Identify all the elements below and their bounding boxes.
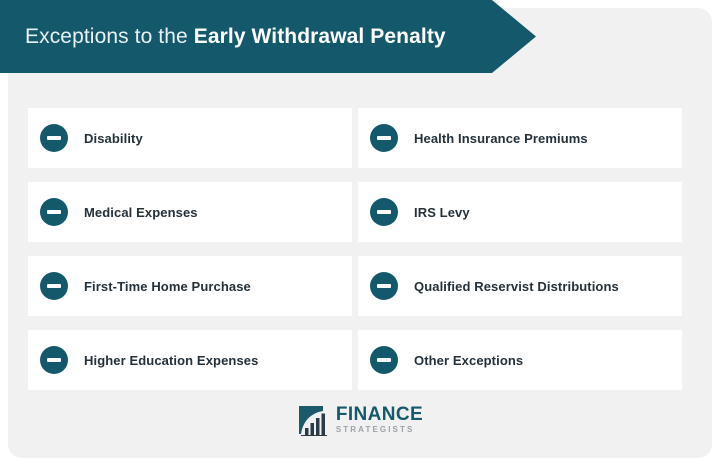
list-item[interactable]: Medical Expenses [28,182,352,242]
list-item-label: Health Insurance Premiums [414,131,588,146]
minus-circle-icon [40,124,68,152]
brand-logo-text: FINANCE STRATEGISTS [336,405,423,435]
exceptions-grid: Disability Health Insurance Premiums Med… [28,108,682,390]
brand-name: FINANCE [336,405,423,424]
minus-circle-icon [370,124,398,152]
list-item[interactable]: Other Exceptions [358,330,682,390]
list-item[interactable]: Qualified Reservist Distributions [358,256,682,316]
list-item-label: Qualified Reservist Distributions [414,279,619,294]
list-item[interactable]: First-Time Home Purchase [28,256,352,316]
minus-circle-icon [40,346,68,374]
minus-circle-icon [40,198,68,226]
brand-logo: FINANCE STRATEGISTS [0,404,720,436]
list-item[interactable]: Disability [28,108,352,168]
list-item[interactable]: IRS Levy [358,182,682,242]
list-item[interactable]: Higher Education Expenses [28,330,352,390]
minus-circle-icon [40,272,68,300]
page-title-bold: Early Withdrawal Penalty [194,25,446,48]
list-item[interactable]: Health Insurance Premiums [358,108,682,168]
page-title-light: Exceptions to the [25,25,194,48]
minus-circle-icon [370,346,398,374]
minus-circle-icon [370,272,398,300]
infographic-root: Exceptions to the Early Withdrawal Penal… [0,0,720,466]
page-title: Exceptions to the Early Withdrawal Penal… [25,0,446,73]
list-item-label: IRS Levy [414,205,470,220]
list-item-label: Other Exceptions [414,353,523,368]
list-item-label: Disability [84,131,143,146]
list-item-label: Medical Expenses [84,205,198,220]
minus-circle-icon [370,198,398,226]
list-item-label: Higher Education Expenses [84,353,258,368]
bar-chart-arrow-icon [297,404,333,436]
header-banner: Exceptions to the Early Withdrawal Penal… [0,0,536,73]
brand-tagline: STRATEGISTS [336,425,423,435]
list-item-label: First-Time Home Purchase [84,279,251,294]
